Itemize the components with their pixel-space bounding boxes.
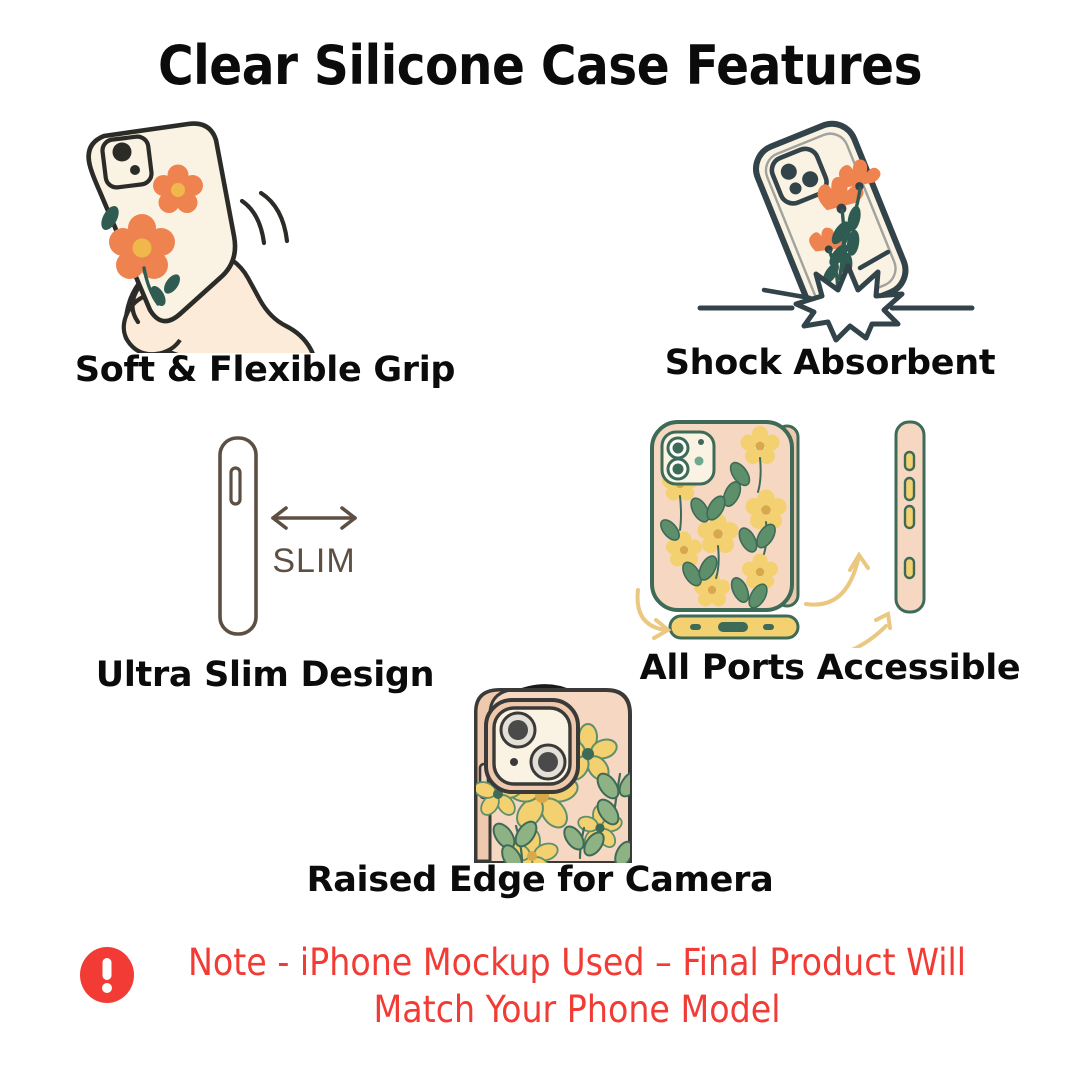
infographic-page: Clear Silicone Case Features bbox=[0, 0, 1080, 1080]
camera-module-icon bbox=[662, 432, 714, 484]
camera-module-icon bbox=[101, 135, 153, 188]
camera-lens-icon bbox=[113, 143, 132, 162]
phone-case-icon bbox=[652, 422, 792, 611]
flash-icon bbox=[510, 758, 518, 766]
camera-module-icon bbox=[486, 700, 578, 792]
feature-shock-absorbent: Shock Absorbent bbox=[600, 118, 1060, 408]
phone-side-icon bbox=[220, 438, 256, 634]
flash-icon bbox=[698, 439, 704, 445]
feature-soft-flexible-grip: Soft & Flexible Grip bbox=[30, 118, 500, 408]
ultra-slim-illustration: SLIM bbox=[30, 420, 500, 655]
sensor-icon bbox=[695, 457, 704, 466]
feature-ultra-slim-design: SLIM Ultra Slim Design bbox=[30, 420, 500, 710]
slim-callout-text: SLIM bbox=[272, 542, 355, 580]
feature-label-raised-edge-for-camera: Raised Edge for Camera bbox=[290, 860, 790, 900]
feature-raised-edge-for-camera: Raised Edge for Camera bbox=[290, 668, 790, 933]
raised-edge-camera-illustration bbox=[290, 668, 790, 863]
feature-label-soft-flexible-grip: Soft & Flexible Grip bbox=[30, 350, 500, 390]
camera-lens-icon bbox=[130, 165, 140, 175]
note-banner: Note - iPhone Mockup Used – Final Produc… bbox=[50, 940, 1030, 1033]
double-arrow-icon bbox=[273, 508, 355, 528]
phone-case-icon bbox=[472, 690, 644, 863]
exclamation-circle-icon bbox=[78, 946, 136, 1004]
bottom-edge-icon bbox=[670, 616, 798, 638]
side-edge-icon bbox=[896, 422, 924, 612]
feature-label-shock-absorbent: Shock Absorbent bbox=[600, 343, 1060, 383]
all-ports-illustration bbox=[600, 408, 1060, 648]
feature-all-ports-accessible: All Ports Accessible bbox=[600, 408, 1060, 708]
motion-arc-icon bbox=[242, 193, 287, 243]
side-button-icon bbox=[231, 468, 240, 504]
hand-flexing-phone-case-illustration bbox=[30, 118, 500, 353]
shock-absorbent-illustration bbox=[600, 118, 1060, 343]
page-title: Clear Silicone Case Features bbox=[0, 34, 1080, 97]
note-text: Note - iPhone Mockup Used – Final Produc… bbox=[152, 940, 1002, 1033]
